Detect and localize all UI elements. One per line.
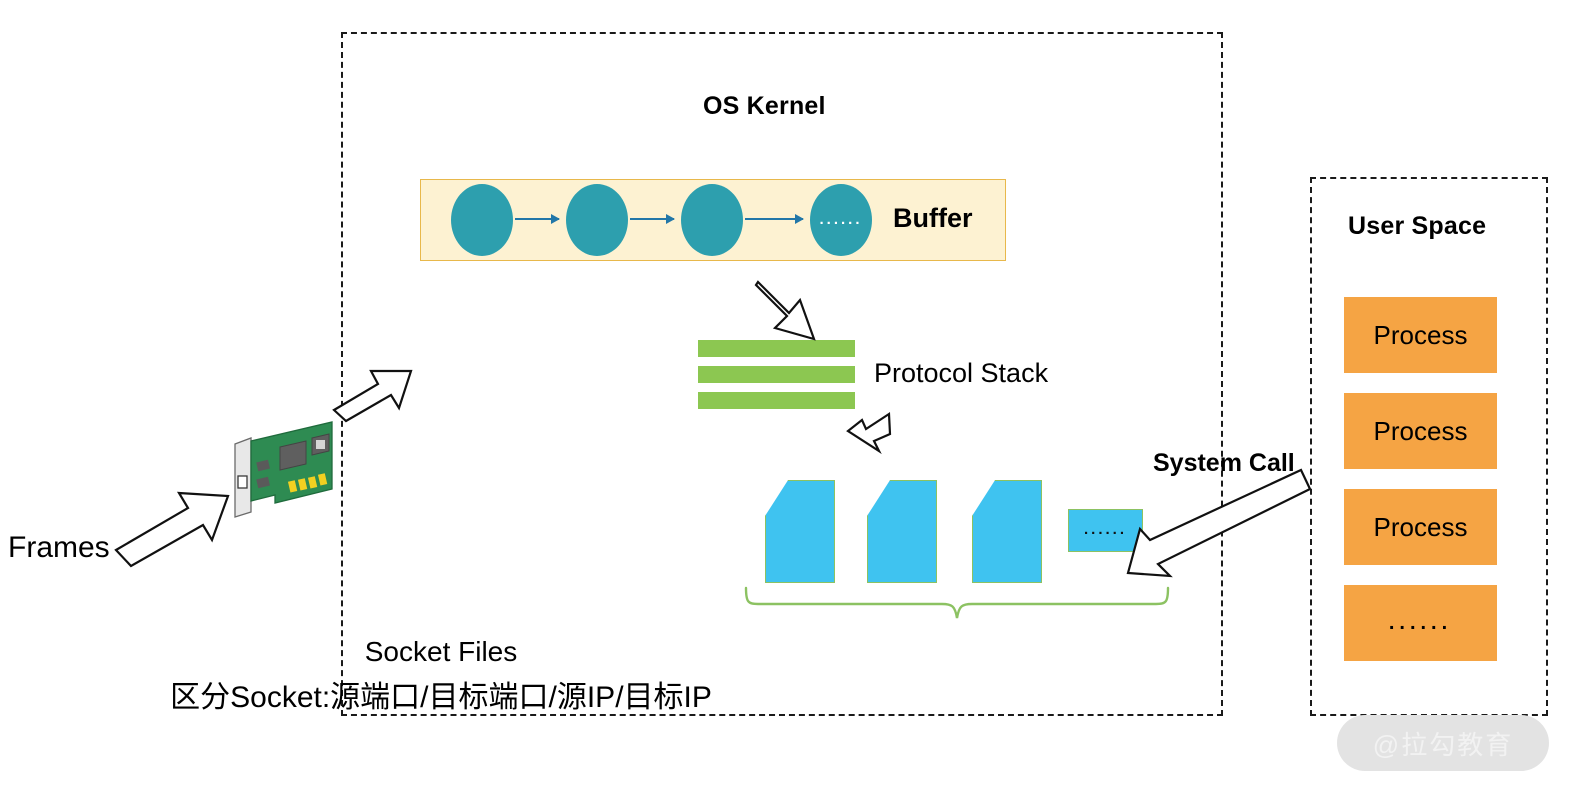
process-box: Process	[1344, 297, 1497, 373]
process-box-ellipsis: ......	[1344, 585, 1497, 661]
buffer-label: Buffer	[893, 203, 973, 234]
process-box: Process	[1344, 393, 1497, 469]
user-space-title: User Space	[1348, 212, 1486, 241]
buffer-node-ellipsis: ......	[810, 184, 872, 256]
socket-files-brace	[742, 586, 1172, 626]
protocol-stack-label: Protocol Stack	[874, 358, 1048, 389]
buffer-link-arrow	[630, 218, 674, 220]
buffer-link-arrow	[745, 218, 803, 220]
watermark: @拉勾教育	[1337, 715, 1549, 771]
buffer-node	[681, 184, 743, 256]
buffer-node	[451, 184, 513, 256]
system-call-label: System Call	[1153, 449, 1295, 478]
socket-files-label: Socket Files	[0, 636, 882, 668]
socket-ellipsis-label: ......	[1069, 522, 1142, 537]
process-label: Process	[1374, 416, 1468, 447]
frames-label: Frames	[8, 531, 110, 565]
network-interface-card-icon	[228, 417, 348, 527]
protocol-stack-bar	[698, 392, 855, 409]
socket-caption: 区分Socket:源端口/目标端口/源IP/目标IP	[0, 672, 882, 716]
buffer-link-arrow	[515, 218, 559, 220]
process-box: Process	[1344, 489, 1497, 565]
socket-file-ellipsis-shape: ......	[1068, 509, 1143, 552]
process-ellipsis-label: ......	[1389, 612, 1452, 635]
buffer-ellipsis-label: ......	[810, 212, 872, 227]
protocol-stack-bar	[698, 366, 855, 383]
protocol-stack-bar	[698, 340, 855, 357]
process-label: Process	[1374, 320, 1468, 351]
process-label: Process	[1374, 512, 1468, 543]
os-kernel-title: OS Kernel	[703, 92, 826, 121]
frames-to-nic-arrow	[116, 493, 228, 566]
socket-files-text: Socket Files	[365, 636, 518, 668]
buffer-node	[566, 184, 628, 256]
diagram-canvas: OS Kernel ...... Buffer Protocol Stack .…	[0, 0, 1576, 792]
